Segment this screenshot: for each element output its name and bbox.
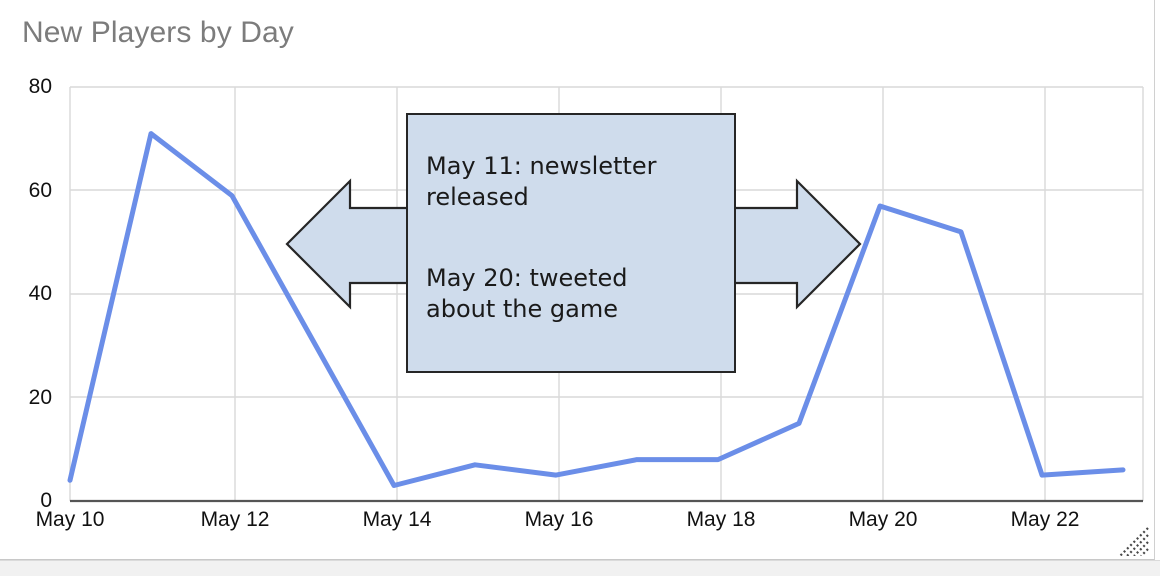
annotation-newsletter-line1: May 11: newsletter [426, 152, 657, 180]
annotation-tweet-line1: May 20: tweeted [426, 264, 627, 292]
annotation-text-newsletter: May 11: newsletter released [426, 151, 726, 213]
resize-grip-icon[interactable] [1116, 526, 1150, 556]
right-arrow-icon [733, 181, 860, 307]
chart-screenshot: New Players by Day 80 60 40 20 0 May 10 … [0, 0, 1160, 576]
window-bottom-strip [0, 560, 1160, 576]
annotation-tweet-line2: about the game [426, 295, 618, 323]
chart-card: New Players by Day 80 60 40 20 0 May 10 … [0, 0, 1155, 560]
annotation-text-tweet: May 20: tweeted about the game [426, 263, 726, 325]
left-arrow-icon [287, 181, 410, 307]
annotation-newsletter-line2: released [426, 183, 529, 211]
annotation-callout-box[interactable]: May 11: newsletter released May 20: twee… [406, 113, 736, 373]
